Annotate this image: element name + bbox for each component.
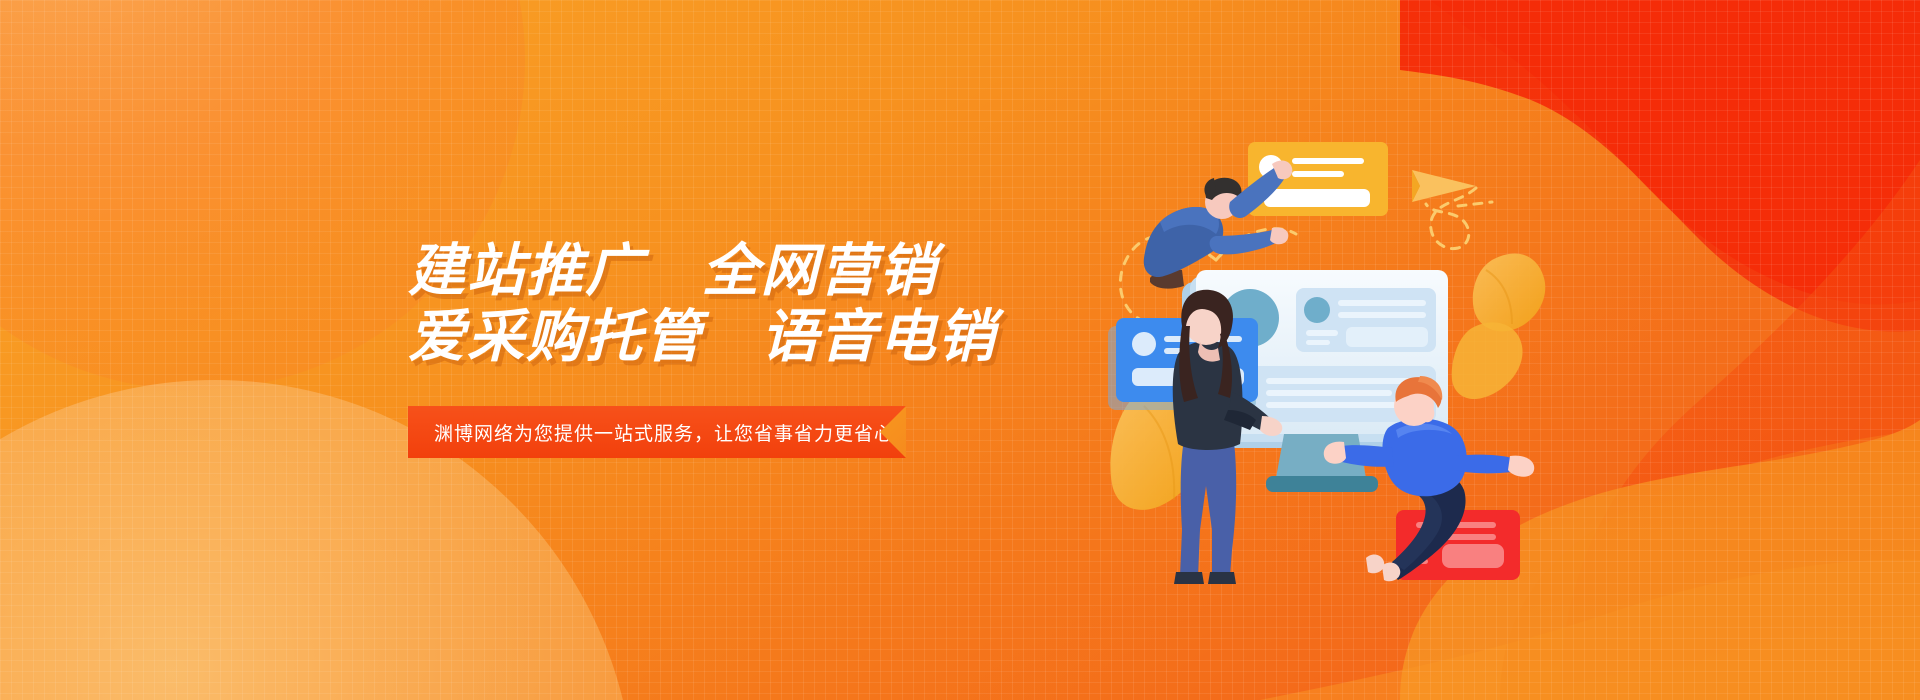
- promo-banner: 建站推广 全网营销 爱采购托管 语音电销 渊博网络为您提供一站式服务，让您省事省…: [0, 0, 1920, 700]
- leaf-shape: [1473, 254, 1545, 332]
- headline-line2-part2: 语音电销: [761, 305, 997, 369]
- man-reaching-top: [1144, 161, 1293, 289]
- hero-illustration: [1120, 110, 1560, 610]
- screen-card-top: [1296, 288, 1436, 352]
- ribbon-text: 渊博网络为您提供一站式服务，让您省事省力更省心: [408, 419, 894, 446]
- headline-line-2: 爱采购托管 语音电销: [408, 304, 1048, 370]
- dashed-trail: [1426, 188, 1492, 249]
- copy-block: 建站推广 全网营销 爱采购托管 语音电销 渊博网络为您提供一站式服务，让您省事省…: [408, 238, 1048, 458]
- illustration-svg: [1120, 110, 1560, 610]
- leaf-shape: [1452, 322, 1523, 399]
- headline-line1-part1: 建站推广: [408, 239, 644, 303]
- ribbon-body: 渊博网络为您提供一站式服务，让您省事省力更省心: [408, 406, 906, 458]
- paper-plane-icon: [1412, 170, 1476, 202]
- subtitle-ribbon: 渊博网络为您提供一站式服务，让您省事省力更省心: [408, 406, 906, 458]
- headline-line2-part1: 爱采购托管: [408, 305, 703, 369]
- headline-line-1: 建站推广 全网营销: [408, 238, 1048, 304]
- headline-line1-part2: 全网营销: [702, 239, 938, 303]
